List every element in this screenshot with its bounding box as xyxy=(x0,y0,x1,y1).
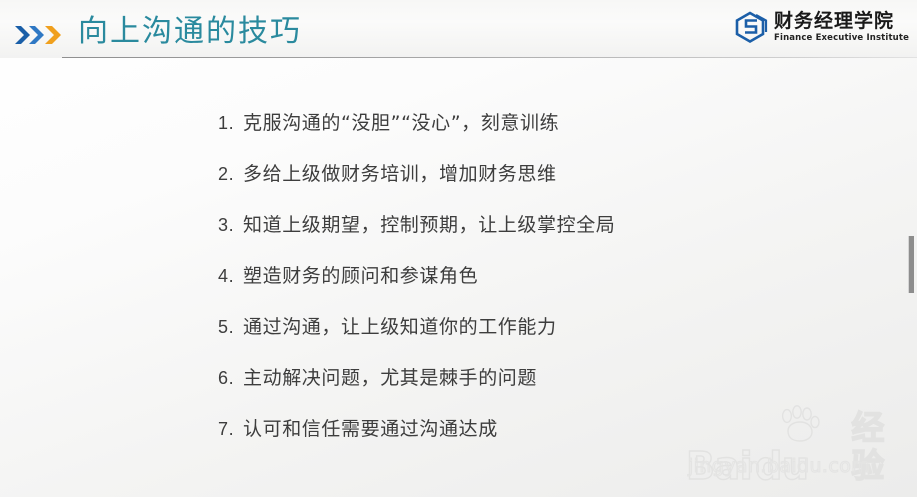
list-item: 7. 认可和信任需要通过沟通达成 xyxy=(218,416,818,467)
list-item-number: 2. xyxy=(218,161,243,187)
scrollbar-thumb[interactable] xyxy=(908,236,914,293)
list-item-text: 塑造财务的顾问和参谋角色 xyxy=(243,263,478,289)
list-item: 6. 主动解决问题，尤其是棘手的问题 xyxy=(218,365,818,416)
watermark-suffix: 经验 xyxy=(851,409,901,485)
list-item: 2. 多给上级做财务培训，增加财务思维 xyxy=(218,161,818,212)
list-item-text: 主动解决问题，尤其是棘手的问题 xyxy=(243,365,537,391)
bullet-list: 1. 克服沟通的“没胆”“没心”，刻意训练 2. 多给上级做财务培训，增加财务思… xyxy=(218,110,818,467)
list-item-text: 通过沟通，让上级知道你的工作能力 xyxy=(243,314,557,340)
brand-logo: 财务经理学院 Finance Executive Institute xyxy=(735,8,909,46)
slide-canvas: 向上沟通的技巧 财务经理学院 Finance Executive Institu… xyxy=(0,0,917,497)
list-item-text: 知道上级期望，控制预期，让上级掌控全局 xyxy=(243,212,615,238)
list-item: 5. 通过沟通，让上级知道你的工作能力 xyxy=(218,314,818,365)
list-item-number: 6. xyxy=(218,365,243,391)
page-title: 向上沟通的技巧 xyxy=(78,12,302,52)
brand-name-en: Finance Executive Institute xyxy=(774,34,909,43)
brand-name-cn: 财务经理学院 xyxy=(774,12,909,31)
title-divider xyxy=(62,57,917,58)
list-item-text: 克服沟通的“没胆”“没心”，刻意训练 xyxy=(243,110,559,136)
list-item: 1. 克服沟通的“没胆”“没心”，刻意训练 xyxy=(218,110,818,161)
list-item-number: 3. xyxy=(218,212,243,238)
list-item: 3. 知道上级期望，控制预期，让上级掌控全局 xyxy=(218,212,818,263)
list-item-number: 5. xyxy=(218,314,243,340)
brand-logo-text: 财务经理学院 Finance Executive Institute xyxy=(774,12,909,43)
list-item-number: 4. xyxy=(218,263,243,289)
triple-chevron-right-icon xyxy=(14,24,68,46)
hexagon-cube-logo-icon xyxy=(735,11,769,43)
list-item-number: 7. xyxy=(218,416,243,442)
list-item: 4. 塑造财务的顾问和参谋角色 xyxy=(218,263,818,314)
list-item-number: 1. xyxy=(218,110,243,136)
list-item-text: 认可和信任需要通过沟通达成 xyxy=(243,416,498,442)
list-item-text: 多给上级做财务培训，增加财务思维 xyxy=(243,161,557,187)
